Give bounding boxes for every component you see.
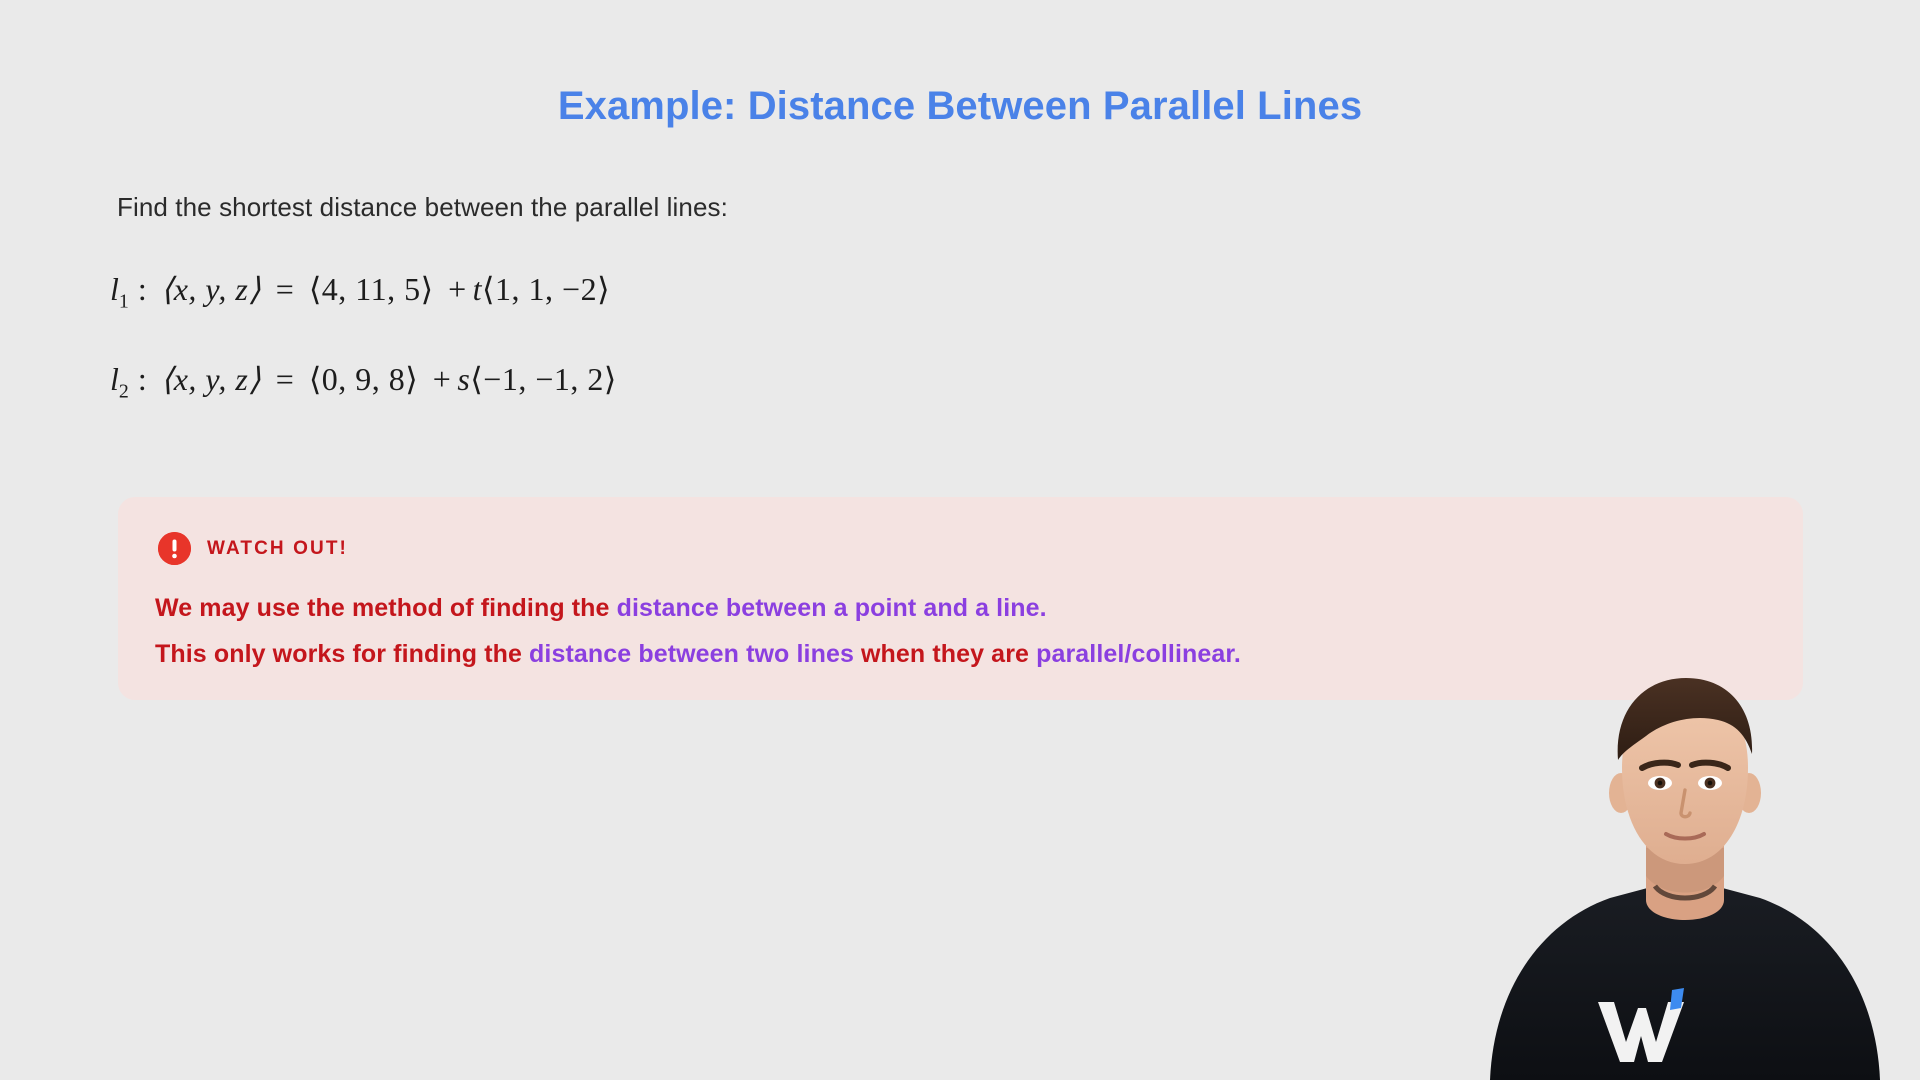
- presenter-neck: [1646, 846, 1724, 920]
- w-logo-icon: [1598, 988, 1684, 1062]
- callout-line-2-text-b: when they are: [854, 640, 1036, 668]
- callout-line-1-highlight-a: distance between a point and a line: [617, 594, 1040, 622]
- callout-title: WATCH OUT!: [207, 538, 348, 560]
- watch-out-callout: WATCH OUT! We may use the method of find…: [118, 497, 1803, 700]
- callout-line-1: We may use the method of finding the dis…: [155, 585, 1241, 631]
- presenter-video-overlay: [1450, 650, 1920, 1080]
- callout-line-1-text-b: .: [1040, 594, 1047, 622]
- equation-1-lhs: ⟨x, y, z⟩ = ⟨4, 11, 5⟩ +t⟨1, 1, −2⟩: [161, 270, 610, 308]
- callout-line-2-highlight-b: parallel/collinear: [1036, 640, 1234, 668]
- equation-1-colon: :: [138, 271, 147, 308]
- equation-line-2: l2 : ⟨x, y, z⟩ = ⟨0, 9, 8⟩ +s⟨−1, −1, 2⟩: [110, 360, 617, 398]
- callout-line-2-text-a: This only works for finding the: [155, 640, 529, 668]
- callout-header: WATCH OUT!: [158, 532, 348, 565]
- equation-2-label: l2: [110, 361, 129, 398]
- equation-1-label: l1: [110, 271, 129, 308]
- callout-line-2: This only works for finding the distance…: [155, 631, 1241, 677]
- equation-2-colon: :: [138, 361, 147, 398]
- exclamation-circle-icon: [158, 532, 191, 565]
- problem-prompt: Find the shortest distance between the p…: [117, 192, 728, 223]
- callout-line-1-text-a: We may use the method of finding the: [155, 594, 617, 622]
- slide-canvas: Example: Distance Between Parallel Lines…: [0, 0, 1920, 1080]
- page-title: Example: Distance Between Parallel Lines: [0, 82, 1920, 130]
- callout-body: We may use the method of finding the dis…: [155, 585, 1241, 677]
- equation-line-1: l1 : ⟨x, y, z⟩ = ⟨4, 11, 5⟩ +t⟨1, 1, −2⟩: [110, 270, 610, 308]
- presenter-shirt: [1490, 886, 1880, 1080]
- callout-line-2-text-c: .: [1234, 640, 1241, 668]
- presenter-face: [1622, 688, 1748, 864]
- equation-2-lhs: ⟨x, y, z⟩ = ⟨0, 9, 8⟩ +s⟨−1, −1, 2⟩: [161, 360, 617, 398]
- callout-line-2-highlight-a: distance between two lines: [529, 640, 854, 668]
